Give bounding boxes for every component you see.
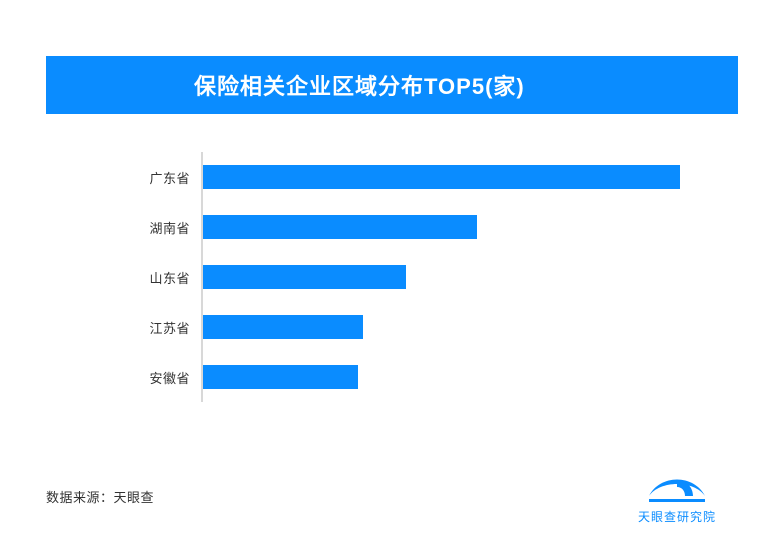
bar-category-label: 广东省: [46, 168, 190, 187]
bar-track: [203, 165, 680, 189]
bar-chart: 广东省 湖南省 山东省: [46, 140, 738, 420]
page-title: 保险相关企业区域分布TOP5(家): [194, 69, 525, 101]
tianyancha-eye-logo-icon: [646, 466, 708, 506]
bar-fill: [203, 215, 477, 239]
bar-row: 安徽省: [46, 352, 738, 402]
title-banner: 保险相关企业区域分布TOP5(家): [46, 56, 738, 114]
bar-track: [203, 265, 406, 289]
bar-category-label: 江苏省: [46, 318, 190, 337]
brand-logo: 天眼查研究院: [617, 466, 737, 532]
bar-category-label: 山东省: [46, 268, 190, 287]
bar-category-label: 安徽省: [46, 368, 190, 387]
bar-fill: [203, 315, 363, 339]
bar-row: 湖南省: [46, 202, 738, 252]
bar-fill: [203, 265, 406, 289]
brand-logo-text: 天眼查研究院: [638, 508, 716, 525]
bar-row: 广东省: [46, 152, 738, 202]
data-source-text: 数据来源：天眼查: [46, 487, 154, 506]
bar-track: [203, 315, 363, 339]
bar-row: 江苏省: [46, 302, 738, 352]
infographic-page: 保险相关企业区域分布TOP5(家) 广东省 湖南省: [0, 0, 783, 544]
bar-fill: [203, 165, 680, 189]
bar-category-label: 湖南省: [46, 218, 190, 237]
bar-track: [203, 215, 477, 239]
bar-fill: [203, 365, 358, 389]
bar-track: [203, 365, 358, 389]
bar-rows: 广东省 湖南省 山东省: [46, 152, 738, 402]
bar-row: 山东省: [46, 252, 738, 302]
